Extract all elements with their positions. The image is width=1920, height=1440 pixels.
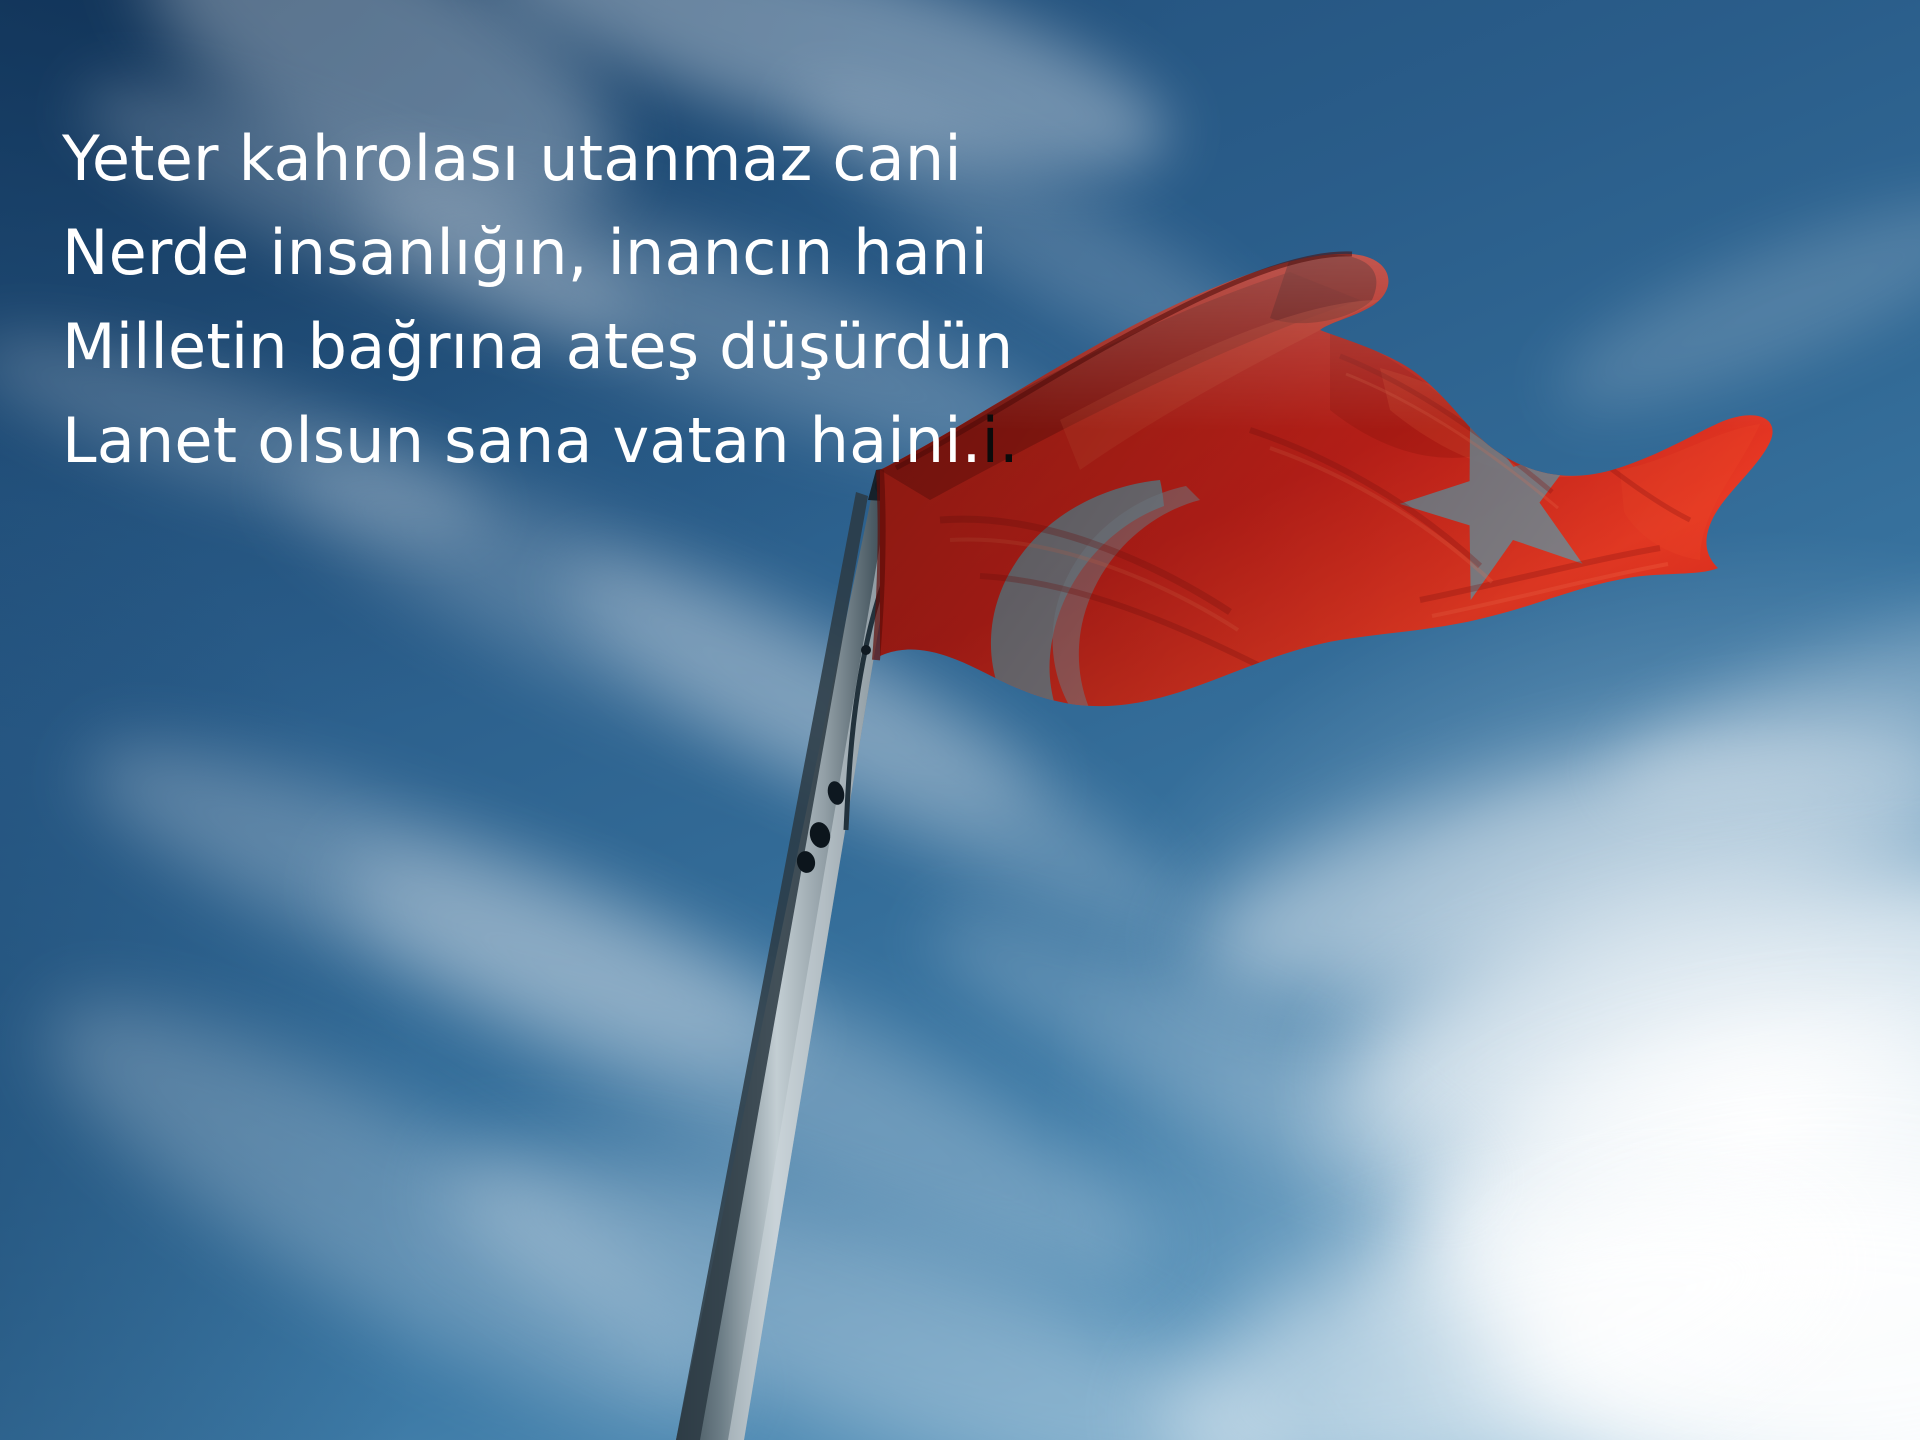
flag-hoist-seam — [876, 470, 882, 660]
photo-canvas: Yeter kahrolası utanmaz cani Nerde insan… — [0, 0, 1920, 1440]
poem-line-2: Nerde insanlığın, inancın hani — [62, 206, 1362, 300]
poem-line-1: Yeter kahrolası utanmaz cani — [62, 112, 1362, 206]
poem-overlay: Yeter kahrolası utanmaz cani Nerde insan… — [62, 112, 1362, 488]
poem-line-3: Milletin bağrına ateş düşürdün — [62, 300, 1362, 394]
poem-trailing-mark: i. — [982, 404, 1019, 477]
poem-line-4-text: Lanet olsun sana vatan haini. — [62, 404, 982, 477]
poem-line-4: Lanet olsun sana vatan haini.i. — [62, 394, 1362, 488]
